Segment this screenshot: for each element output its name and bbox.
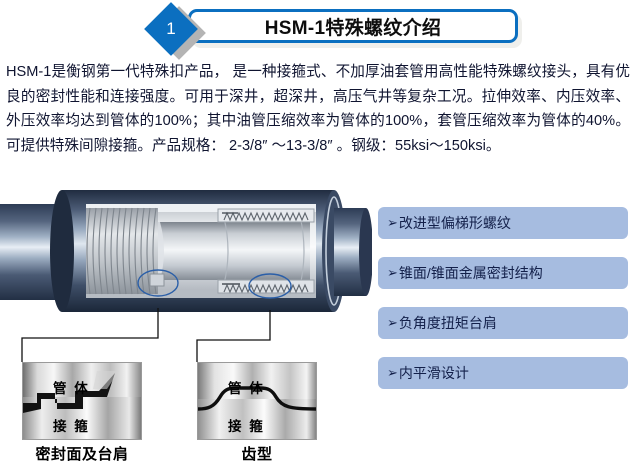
feature-label-1: 锥面/锥面金属密封结构 bbox=[399, 263, 543, 283]
feature-item-0[interactable]: ➢ 改进型偏梯形螺纹 bbox=[378, 207, 628, 239]
arrow-icon: ➢ bbox=[387, 315, 398, 331]
feature-item-2[interactable]: ➢ 负角度扭矩台肩 bbox=[378, 307, 628, 339]
external-threads bbox=[86, 208, 158, 294]
intro-paragraph: HSM-1是衡钢第一代特殊扣产品， 是一种接箍式、不加厚油套管用高性能特殊螺纹接… bbox=[6, 60, 630, 158]
callout-caption-1: 密封面及台肩 bbox=[22, 443, 142, 464]
slide-header: HSM-1特殊螺纹介绍 1 bbox=[0, 4, 634, 48]
callout-label-bottom-2: 接 箍 bbox=[228, 415, 265, 435]
feature-item-1[interactable]: ➢ 锥面/锥面金属密封结构 bbox=[378, 257, 628, 289]
internal-thread-upper bbox=[218, 209, 314, 222]
slide-page: HSM-1特殊螺纹介绍 1 HSM-1是衡钢第一代特殊扣产品， 是一种接箍式、不… bbox=[0, 0, 634, 471]
callout-label-top-2: 管 体 bbox=[228, 377, 265, 397]
coupling-diagram bbox=[0, 182, 372, 318]
callout-leader-lines bbox=[0, 300, 372, 370]
internal-thread-lower bbox=[218, 280, 314, 293]
arrow-icon: ➢ bbox=[387, 365, 398, 381]
arrow-icon: ➢ bbox=[387, 215, 398, 231]
feature-item-3[interactable]: ➢ 内平滑设计 bbox=[378, 357, 628, 389]
feature-label-3: 内平滑设计 bbox=[399, 363, 469, 383]
callout-label-top-1: 管 体 bbox=[53, 377, 90, 397]
callout-tooth-profile: 管 体 接 箍 齿型 bbox=[197, 362, 317, 464]
arrow-icon: ➢ bbox=[387, 265, 398, 281]
feature-list: ➢ 改进型偏梯形螺纹 ➢ 锥面/锥面金属密封结构 ➢ 负角度扭矩台肩 ➢ 内平滑… bbox=[378, 207, 632, 407]
callout-image-seal: 管 体 接 箍 bbox=[22, 362, 142, 440]
callout-seal-face-and-shoulder: 管 体 接 箍 密封面及台肩 bbox=[22, 362, 142, 464]
callout-label-bottom-1: 接 箍 bbox=[53, 415, 90, 435]
section-number-label: 1 bbox=[152, 10, 190, 48]
feature-label-2: 负角度扭矩台肩 bbox=[399, 313, 497, 333]
right-pipe-body bbox=[334, 208, 372, 296]
callout-caption-2: 齿型 bbox=[197, 443, 317, 464]
seal-shoulder-step bbox=[150, 274, 164, 286]
page-title: HSM-1特殊螺纹介绍 bbox=[188, 9, 518, 43]
feature-label-0: 改进型偏梯形螺纹 bbox=[399, 213, 511, 233]
callout-image-tooth: 管 体 接 箍 bbox=[197, 362, 317, 440]
